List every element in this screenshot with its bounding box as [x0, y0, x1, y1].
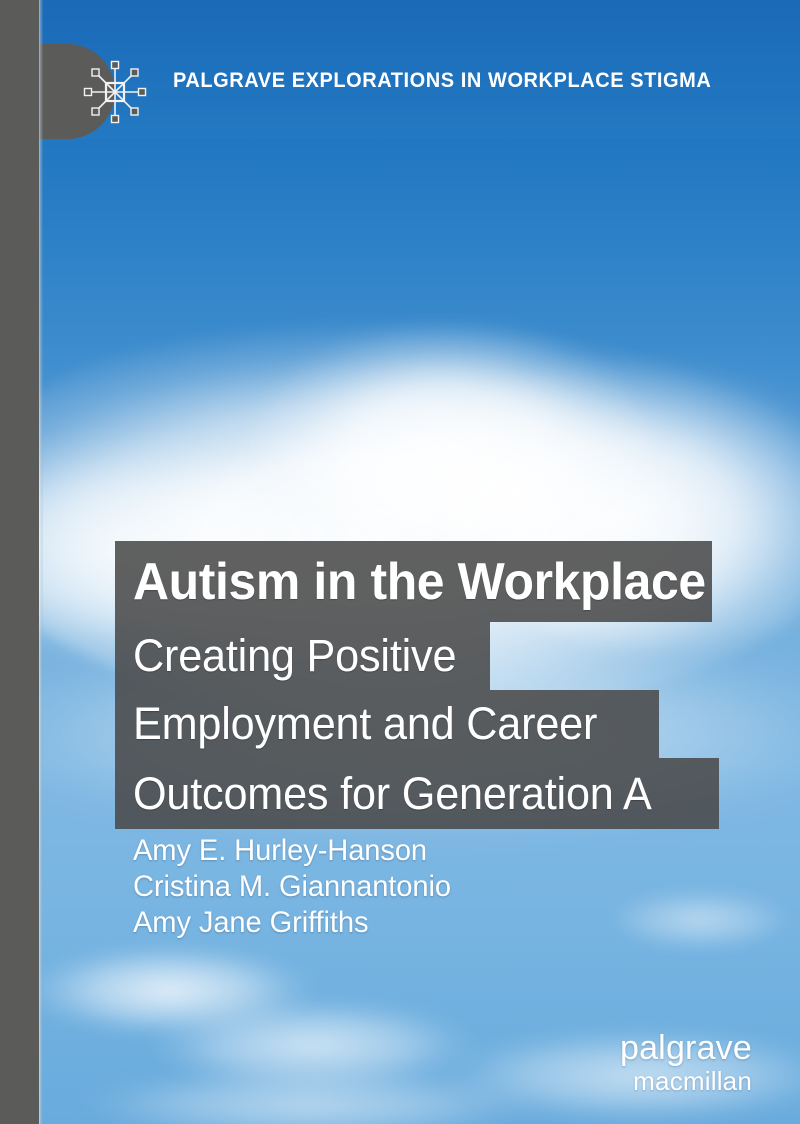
title-main-text: Autism in the Workplace	[133, 552, 706, 612]
series-banner: PALGRAVE EXPLORATIONS IN WORKPLACE STIGM…	[39, 0, 800, 139]
title-block: Autism in the Workplace Creating Positiv…	[115, 541, 719, 829]
title-subtitle-row-1: Creating Positive	[115, 622, 490, 690]
palgrave-starburst-node-icon	[79, 56, 151, 128]
title-subtitle-row-3: Outcomes for Generation A	[115, 758, 719, 829]
series-title: PALGRAVE EXPLORATIONS IN WORKPLACE STIGM…	[173, 68, 711, 93]
title-main-row: Autism in the Workplace	[115, 541, 712, 622]
title-subtitle-text-1: Creating Positive	[133, 630, 456, 682]
author-name-1: Amy E. Hurley-Hanson	[133, 833, 451, 869]
spine-edge-highlight	[39, 0, 43, 1124]
author-name-3: Amy Jane Griffiths	[133, 905, 451, 941]
title-subtitle-text-2: Employment and Career	[133, 698, 597, 750]
title-subtitle-row-2: Employment and Career	[115, 690, 659, 758]
author-list: Amy E. Hurley-Hanson Cristina M. Giannan…	[133, 833, 461, 941]
publisher-name: palgrave	[620, 1030, 752, 1066]
title-subtitle-text-3: Outcomes for Generation A	[133, 768, 652, 820]
book-spine	[0, 0, 39, 1124]
author-name-2: Cristina M. Giannantonio	[133, 869, 451, 905]
publisher-imprint: macmillan	[620, 1066, 752, 1096]
publisher-logo: palgrave macmillan	[620, 1030, 752, 1096]
book-cover: PALGRAVE EXPLORATIONS IN WORKPLACE STIGM…	[0, 0, 800, 1124]
